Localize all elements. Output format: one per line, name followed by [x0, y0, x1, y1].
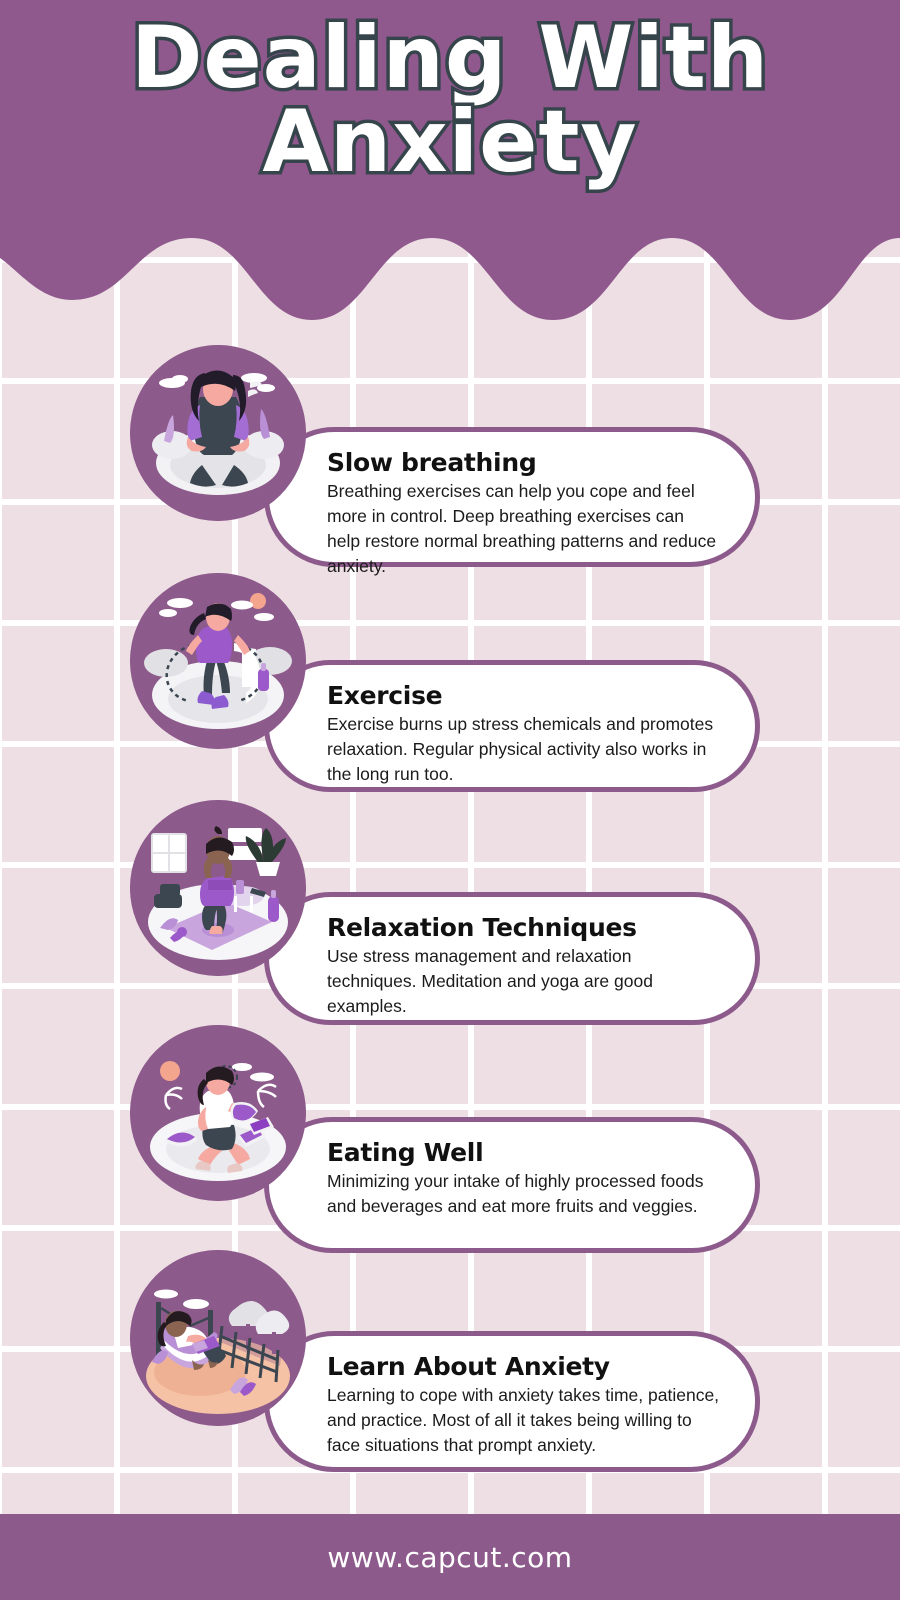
- page-title: Dealing With Anxiety: [0, 16, 900, 185]
- tip-card-2-body: Exercise burns up stress chemicals and p…: [327, 712, 721, 787]
- tip-card-2: Exercise Exercise burns up stress chemic…: [264, 660, 760, 792]
- page-title-line-2: Anxiety: [0, 100, 900, 184]
- tip-card-1: Slow breathing Breathing exercises can h…: [264, 427, 760, 567]
- header-banner: Dealing With Anxiety: [0, 0, 900, 320]
- tip-card-5-title: Learn About Anxiety: [327, 1352, 721, 1381]
- tip-card-2-title: Exercise: [327, 681, 721, 710]
- tip-card-1-title: Slow breathing: [327, 448, 721, 477]
- tip-card-5: Learn About Anxiety Learning to cope wit…: [264, 1331, 760, 1472]
- tip-card-4: Eating Well Minimizing your intake of hi…: [264, 1117, 760, 1253]
- tip-card-1-body: Breathing exercises can help you cope an…: [327, 479, 721, 578]
- footer-bar: www.capcut.com: [0, 1514, 900, 1600]
- tip-row-3: Relaxation Techniques Use stress managem…: [0, 800, 900, 1030]
- tip-card-3: Relaxation Techniques Use stress managem…: [264, 892, 760, 1025]
- woman-yoga-tree-pose-icon: [130, 800, 306, 976]
- woman-meditating-lotus-pose-icon: [130, 345, 306, 521]
- tip-card-3-body: Use stress management and relaxation tec…: [327, 944, 721, 1019]
- woman-eating-watermelon-icon: [130, 1025, 306, 1201]
- tip-row-4: Eating Well Minimizing your intake of hi…: [0, 1025, 900, 1255]
- tip-card-4-body: Minimizing your intake of highly process…: [327, 1169, 721, 1219]
- infographic-poster: Dealing With Anxiety: [0, 0, 900, 1600]
- tip-row-2: Exercise Exercise burns up stress chemic…: [0, 573, 900, 803]
- tip-card-4-title: Eating Well: [327, 1138, 721, 1167]
- footer-url[interactable]: www.capcut.com: [327, 1541, 572, 1574]
- tip-card-3-title: Relaxation Techniques: [327, 913, 721, 942]
- tip-row-1: Slow breathing Breathing exercises can h…: [0, 345, 900, 575]
- woman-jumping-rope-icon: [130, 573, 306, 749]
- tip-row-5: Learn About Anxiety Learning to cope wit…: [0, 1250, 900, 1480]
- tip-card-5-body: Learning to cope with anxiety takes time…: [327, 1383, 721, 1458]
- woman-reading-in-hammock-icon: [130, 1250, 306, 1426]
